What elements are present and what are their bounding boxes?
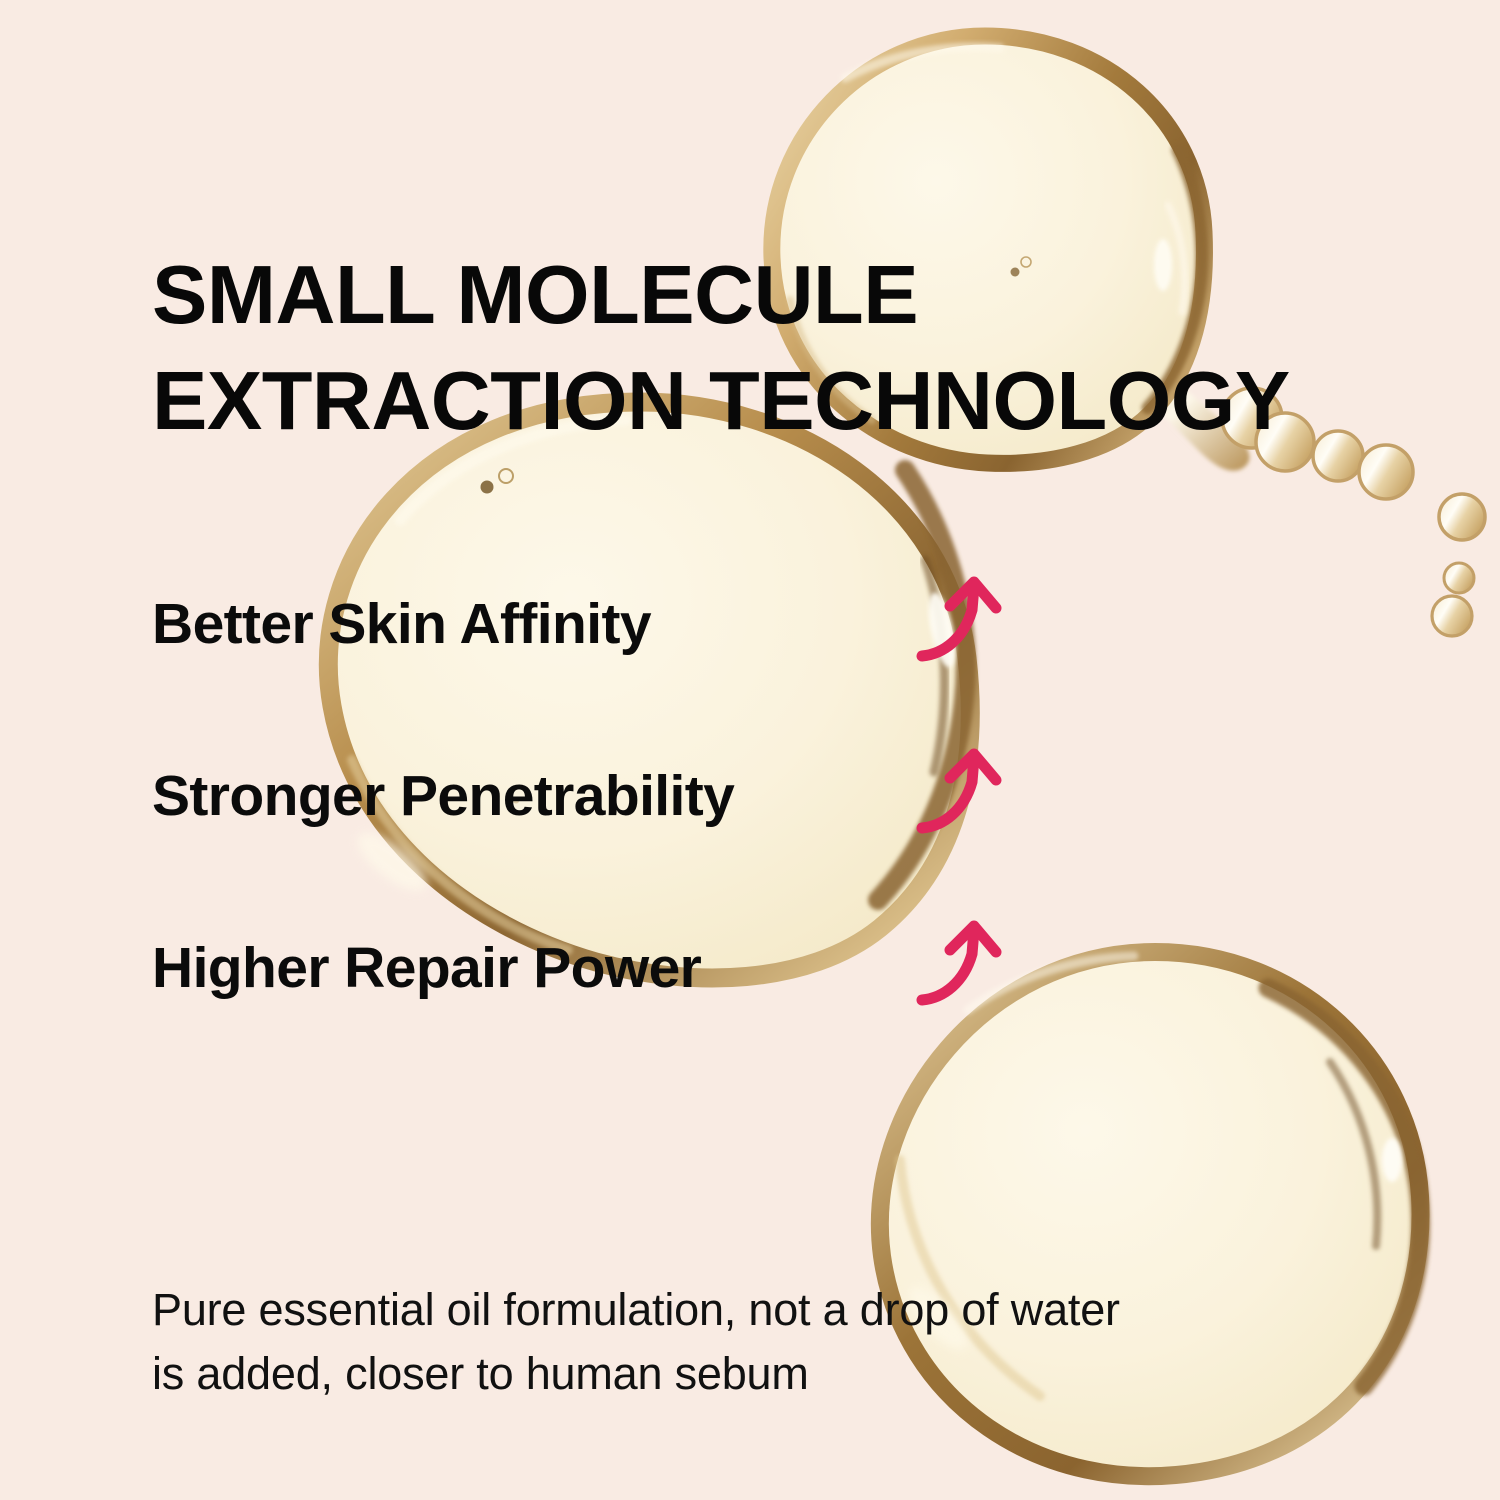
curved-up-arrow-icon bbox=[912, 914, 1008, 1018]
benefit-label-penetrability: Stronger Penetrability bbox=[152, 768, 734, 825]
footer-caption: Pure essential oil formulation, not a dr… bbox=[152, 1278, 1382, 1406]
list-item: Higher Repair Power bbox=[152, 940, 1092, 1112]
product-feature-poster: SMALL MOLECULE EXTRACTION TECHNOLOGY Bet… bbox=[0, 0, 1500, 1500]
benefit-label-repair-power: Higher Repair Power bbox=[152, 940, 701, 997]
page-title: SMALL MOLECULE EXTRACTION TECHNOLOGY bbox=[152, 242, 1412, 454]
curved-up-arrow-icon bbox=[912, 742, 1008, 846]
benefit-label-skin-affinity: Better Skin Affinity bbox=[152, 596, 651, 653]
curved-up-arrow-icon bbox=[912, 570, 1008, 674]
benefit-list: Better Skin Affinity Stronger Penetrabil… bbox=[152, 596, 1092, 1112]
